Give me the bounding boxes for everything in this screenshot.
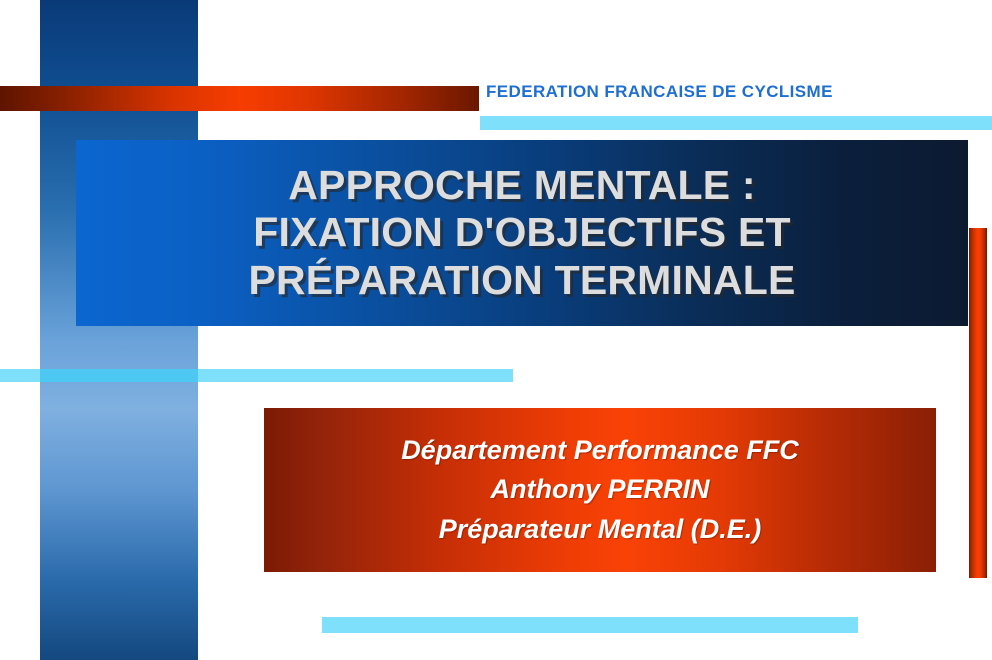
slide-subtitle-text: Département Performance FFC Anthony PERR… [401, 431, 799, 549]
cyan-accent-bar-top [480, 116, 992, 130]
right-vertical-orange-bar [969, 228, 987, 578]
presentation-slide: FEDERATION FRANCAISE DE CYCLISME APPROCH… [0, 0, 992, 660]
slide-subtitle-box: Département Performance FFC Anthony PERR… [264, 408, 936, 572]
cyan-accent-bar-middle-overlap [40, 369, 198, 382]
slide-title-box: APPROCHE MENTALE : FIXATION D'OBJECTIFS … [76, 140, 968, 326]
red-horizontal-band [0, 86, 479, 111]
cyan-accent-bar-bottom [322, 617, 858, 633]
slide-title-text: APPROCHE MENTALE : FIXATION D'OBJECTIFS … [238, 162, 805, 305]
federation-header-text: FEDERATION FRANCAISE DE CYCLISME [486, 82, 833, 102]
